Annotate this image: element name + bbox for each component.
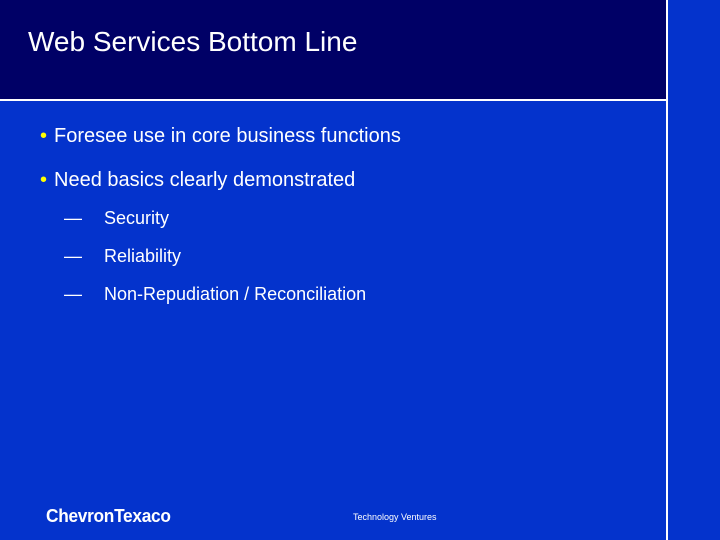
chevrontexaco-logo: ChevronTexaco xyxy=(46,506,171,527)
em-dash-icon: — xyxy=(64,244,104,268)
sub-bullet-item-reliability: — Reliability xyxy=(64,244,181,268)
em-dash-icon: — xyxy=(64,282,104,306)
sub-bullet-item-non-repudiation-label: Non-Repudiation / Reconciliation xyxy=(104,282,366,306)
bullet-dot-icon: • xyxy=(40,123,54,149)
sub-bullet-item-security-label: Security xyxy=(104,206,169,230)
sub-bullet-item-security: — Security xyxy=(64,206,169,230)
slide-body: • Foresee use in core business functions… xyxy=(0,101,666,540)
bullet-item-2: • Need basics clearly demonstrated xyxy=(40,167,355,193)
em-dash-icon: — xyxy=(64,206,104,230)
bullet-item-2-label: Need basics clearly demonstrated xyxy=(54,167,355,193)
bullet-dot-icon: • xyxy=(40,167,54,193)
bullet-item-1-label: Foresee use in core business functions xyxy=(54,123,401,149)
bullet-item-1: • Foresee use in core business functions xyxy=(40,123,401,149)
footer-tagline: Technology Ventures xyxy=(353,512,437,522)
slide-title: Web Services Bottom Line xyxy=(28,25,357,59)
vertical-divider-rule xyxy=(666,0,668,540)
sub-bullet-item-reliability-label: Reliability xyxy=(104,244,181,268)
right-margin-column xyxy=(668,0,720,540)
presentation-slide: Web Services Bottom Line • Foresee use i… xyxy=(0,0,720,540)
sub-bullet-item-non-repudiation: — Non-Repudiation / Reconciliation xyxy=(64,282,366,306)
